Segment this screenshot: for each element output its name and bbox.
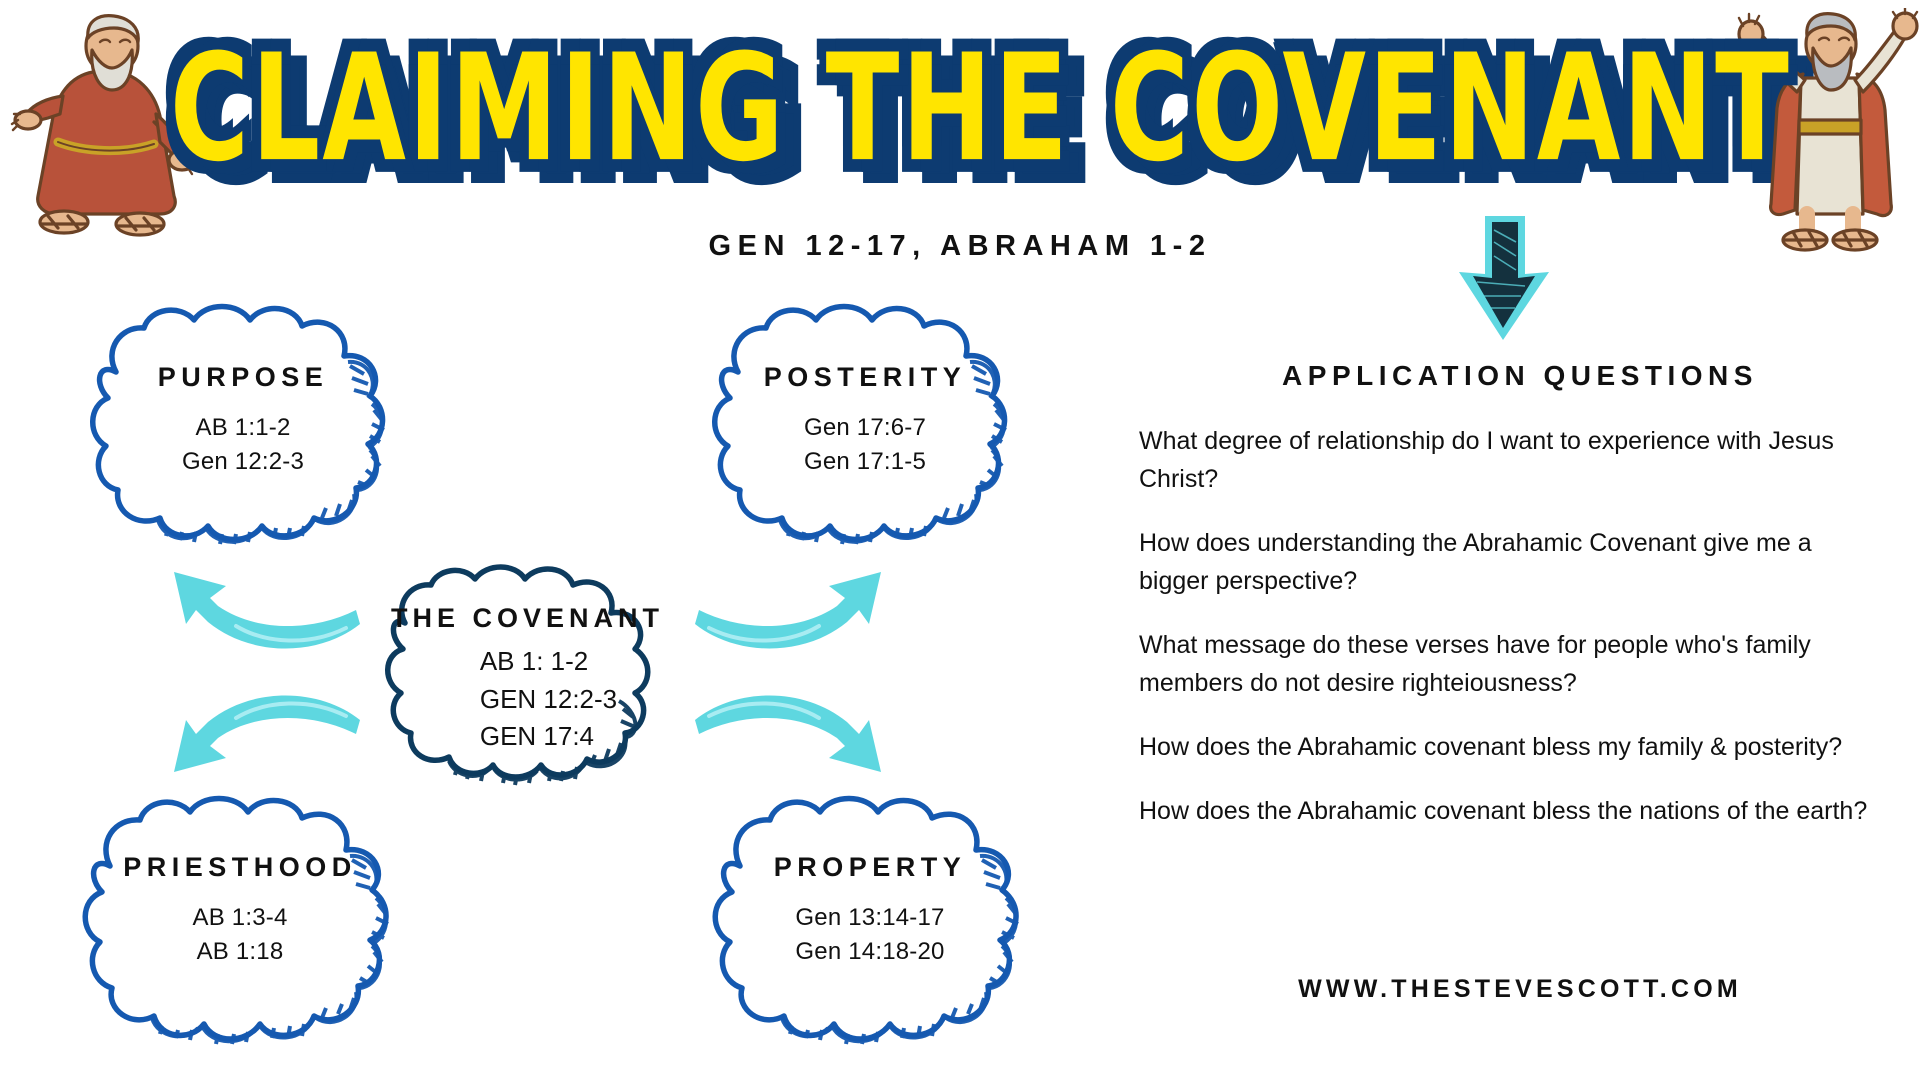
application-question-2: How does understanding the Abrahamic Cov… [1125,524,1885,600]
application-questions-heading: APPLICATION QUESTIONS [1125,360,1915,392]
cloud-the-covenant: THE COVENANT AB 1: 1-2 GEN 12:2-3 GEN 17… [355,565,700,780]
arrow-down-pointer-icon [1437,212,1572,347]
application-question-4: How does the Abrahamic covenant bless my… [1125,728,1885,766]
cloud-priesthood: PRIESTHOOD AB 1:3-4 AB 1:18 [50,790,430,1050]
arrow-center-to-purpose-icon [160,552,365,667]
cloud-purpose: PURPOSE AB 1:1-2 Gen 12:2-3 [58,300,428,550]
application-question-5: How does the Abrahamic covenant bless th… [1125,792,1885,830]
arrow-center-to-posterity-icon [690,552,895,667]
application-question-3: What message do these verses have for pe… [1125,626,1885,702]
cloud-property: PROPERTY Gen 13:14-17 Gen 14:18-20 [680,790,1060,1050]
page-title-text: CLAIMING THE COVENANT [169,34,1790,182]
arrow-center-to-property-icon [690,680,895,795]
page-title: CLAIMING THE COVENANT [230,38,1730,178]
application-questions-panel: APPLICATION QUESTIONS What degree of rel… [1125,360,1915,856]
cloud-posterity: POSTERITY Gen 17:6-7 Gen 17:1-5 [680,300,1050,550]
application-question-1: What degree of relationship do I want to… [1125,422,1885,498]
page-subtitle: GEN 12-17, ABRAHAM 1-2 [0,230,1920,263]
infographic-page: CLAIMING THE COVENANT CLAIMING THE COVEN… [0,0,1920,1080]
site-url[interactable]: WWW.THESTEVESCOTT.COM [1125,975,1915,1004]
arrow-center-to-priesthood-icon [160,680,365,795]
